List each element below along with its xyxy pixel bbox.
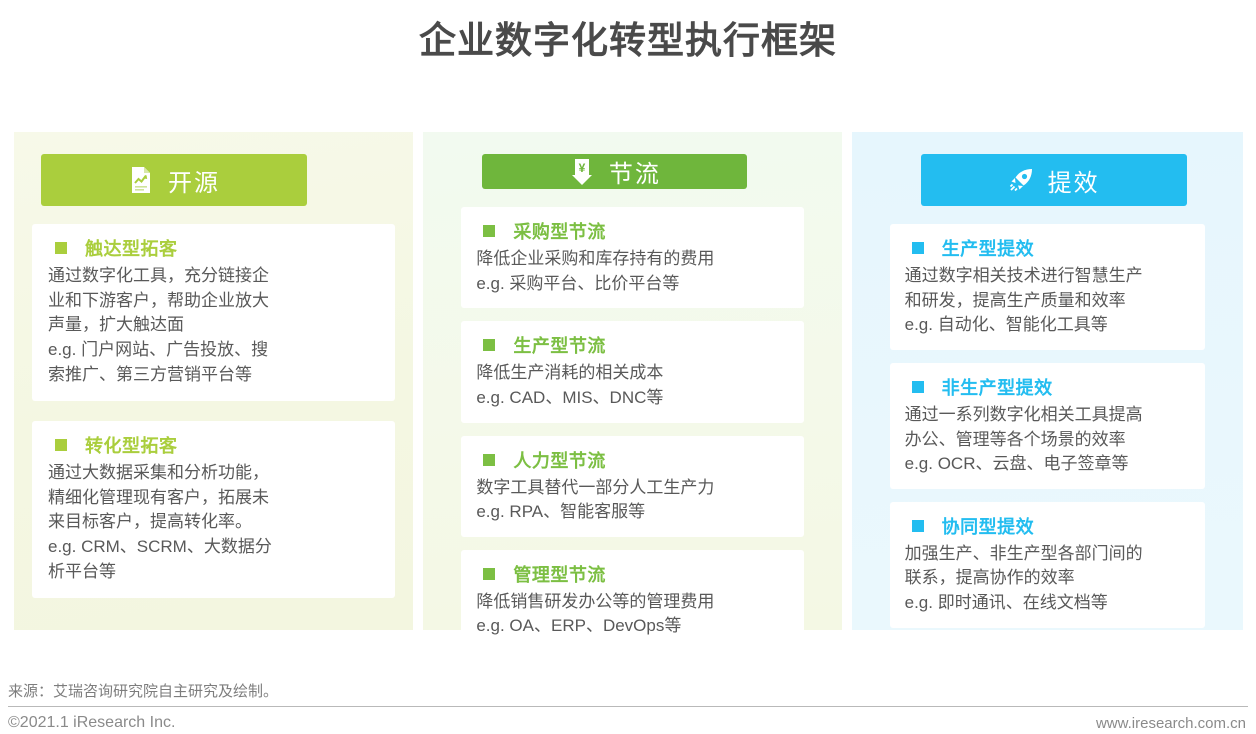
down-arrow-yuan-icon: ¥ bbox=[569, 157, 595, 187]
card-title: 采购型节流 bbox=[513, 218, 606, 244]
card-chuda-tuoke[interactable]: 触达型拓客 通过数字化工具，充分链接企 业和下游客户，帮助企业放大 声量，扩大触… bbox=[32, 224, 395, 401]
card-shengchan-jieliu[interactable]: 生产型节流 降低生产消耗的相关成本 e.g. CAD、MIS、DNC等 bbox=[461, 321, 803, 422]
footer-divider bbox=[8, 706, 1248, 707]
card-zhuanhua-tuoke[interactable]: 转化型拓客 通过大数据采集和分析功能， 精细化管理现有客户，拓展未 来目标客户，… bbox=[32, 421, 395, 598]
card-list-jieliu: 采购型节流 降低企业采购和库存持有的费用 e.g. 采购平台、比价平台等 生产型… bbox=[439, 207, 825, 651]
bullet-square-icon bbox=[912, 520, 924, 532]
page-title: 企业数字化转型执行框架 bbox=[0, 0, 1256, 66]
column-jieliu: ¥ 节流 采购型节流 降低企业采购和库存持有的费用 e.g. 采购平台、比价平台… bbox=[423, 132, 841, 630]
bullet-square-icon bbox=[483, 454, 495, 466]
bullet-square-icon bbox=[483, 568, 495, 580]
card-title: 人力型节流 bbox=[513, 447, 606, 473]
card-list-kaiyuan: 触达型拓客 通过数字化工具，充分链接企 业和下游客户，帮助企业放大 声量，扩大触… bbox=[30, 224, 397, 630]
bullet-square-icon bbox=[483, 225, 495, 237]
card-body: 通过数字化工具，充分链接企 业和下游客户，帮助企业放大 声量，扩大触达面 e.g… bbox=[48, 264, 379, 387]
card-title: 转化型拓客 bbox=[85, 432, 178, 458]
card-head: 人力型节流 bbox=[476, 447, 788, 473]
card-body: 降低销售研发办公等的管理费用 e.g. OA、ERP、DevOps等 bbox=[476, 590, 788, 639]
framework-columns: 开源 触达型拓客 通过数字化工具，充分链接企 业和下游客户，帮助企业放大 声量，… bbox=[14, 132, 1243, 630]
card-body: 数字工具替代一部分人工生产力 e.g. RPA、智能客服等 bbox=[476, 476, 788, 525]
card-head: 生产型提效 bbox=[905, 235, 1190, 261]
column-header-label: 开源 bbox=[168, 163, 220, 198]
card-head: 非生产型提效 bbox=[905, 374, 1190, 400]
bullet-square-icon bbox=[55, 242, 67, 254]
card-head: 转化型拓客 bbox=[48, 432, 379, 458]
bullet-square-icon bbox=[912, 242, 924, 254]
card-body: 降低生产消耗的相关成本 e.g. CAD、MIS、DNC等 bbox=[476, 361, 788, 410]
column-kaiyuan: 开源 触达型拓客 通过数字化工具，充分链接企 业和下游客户，帮助企业放大 声量，… bbox=[14, 132, 413, 630]
card-title: 触达型拓客 bbox=[85, 235, 178, 261]
footer: 来源：艾瑞咨询研究院自主研究及绘制。 ©2021.1 iResearch Inc… bbox=[0, 638, 1256, 734]
card-renli-jieliu[interactable]: 人力型节流 数字工具替代一部分人工生产力 e.g. RPA、智能客服等 bbox=[461, 436, 803, 537]
column-header-label: 提效 bbox=[1048, 163, 1100, 198]
source-note: 来源：艾瑞咨询研究院自主研究及绘制。 bbox=[8, 680, 278, 701]
column-tixiao: 提效 生产型提效 通过数字相关技术进行智慧生产 和研发，提高生产质量和效率 e.… bbox=[852, 132, 1243, 630]
card-feishengchan-tixiao[interactable]: 非生产型提效 通过一系列数字化相关工具提高 办公、管理等各个场景的效率 e.g.… bbox=[890, 363, 1205, 489]
website-link[interactable]: www.iresearch.com.cn bbox=[1096, 715, 1246, 732]
card-head: 采购型节流 bbox=[476, 218, 788, 244]
card-caigou-jieliu[interactable]: 采购型节流 降低企业采购和库存持有的费用 e.g. 采购平台、比价平台等 bbox=[461, 207, 803, 308]
card-title: 生产型节流 bbox=[513, 332, 606, 358]
card-head: 生产型节流 bbox=[476, 332, 788, 358]
card-head: 协同型提效 bbox=[905, 513, 1190, 539]
column-header-jieliu: ¥ 节流 bbox=[482, 154, 747, 189]
document-chart-icon bbox=[128, 165, 154, 195]
card-body: 通过大数据采集和分析功能， 精细化管理现有客户，拓展未 来目标客户，提高转化率。… bbox=[48, 461, 379, 584]
card-shengchan-tixiao[interactable]: 生产型提效 通过数字相关技术进行智慧生产 和研发，提高生产质量和效率 e.g. … bbox=[890, 224, 1205, 350]
card-title: 非生产型提效 bbox=[942, 374, 1053, 400]
copyright-text: ©2021.1 iResearch Inc. bbox=[8, 714, 175, 732]
column-header-label: 节流 bbox=[609, 154, 661, 189]
rocket-icon bbox=[1008, 165, 1034, 195]
bullet-square-icon bbox=[912, 381, 924, 393]
card-title: 管理型节流 bbox=[513, 561, 606, 587]
card-body: 加强生产、非生产型各部门间的 联系，提高协作的效率 e.g. 即时通讯、在线文档… bbox=[905, 542, 1190, 616]
bullet-square-icon bbox=[55, 439, 67, 451]
card-head: 触达型拓客 bbox=[48, 235, 379, 261]
card-xietong-tixiao[interactable]: 协同型提效 加强生产、非生产型各部门间的 联系，提高协作的效率 e.g. 即时通… bbox=[890, 502, 1205, 628]
column-header-tixiao: 提效 bbox=[921, 154, 1187, 206]
card-list-tixiao: 生产型提效 通过数字相关技术进行智慧生产 和研发，提高生产质量和效率 e.g. … bbox=[868, 224, 1227, 630]
card-title: 协同型提效 bbox=[942, 513, 1035, 539]
column-header-kaiyuan: 开源 bbox=[41, 154, 307, 206]
bullet-square-icon bbox=[483, 339, 495, 351]
card-body: 通过一系列数字化相关工具提高 办公、管理等各个场景的效率 e.g. OCR、云盘… bbox=[905, 403, 1190, 477]
card-body: 降低企业采购和库存持有的费用 e.g. 采购平台、比价平台等 bbox=[476, 247, 788, 296]
card-guanli-jieliu[interactable]: 管理型节流 降低销售研发办公等的管理费用 e.g. OA、ERP、DevOps等 bbox=[461, 550, 803, 651]
svg-text:¥: ¥ bbox=[579, 161, 586, 175]
card-body: 通过数字相关技术进行智慧生产 和研发，提高生产质量和效率 e.g. 自动化、智能… bbox=[905, 264, 1190, 338]
card-head: 管理型节流 bbox=[476, 561, 788, 587]
card-title: 生产型提效 bbox=[942, 235, 1035, 261]
